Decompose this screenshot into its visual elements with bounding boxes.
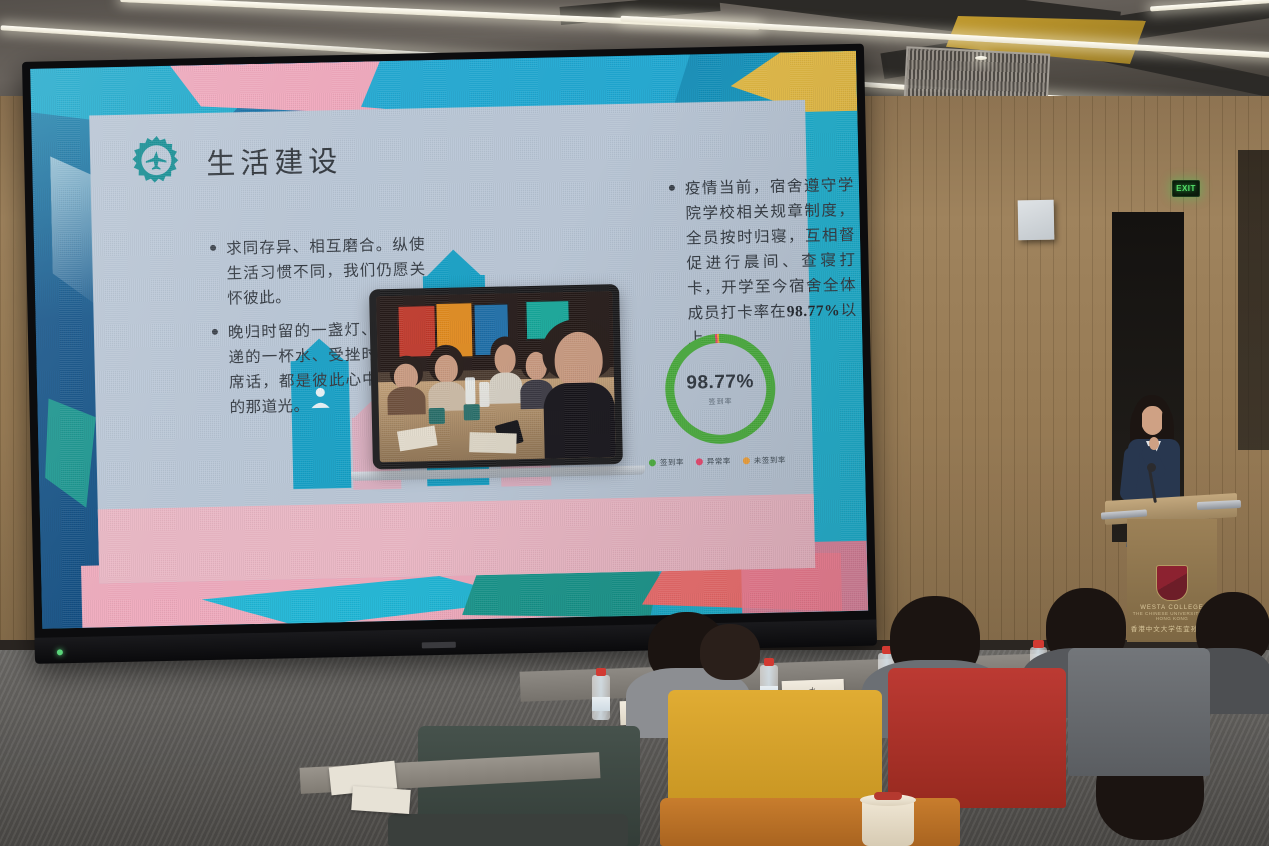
legend-swatch-green xyxy=(649,459,656,466)
laptop-screen xyxy=(369,284,623,469)
photo-person-2 xyxy=(427,344,466,411)
photo-menu-paper-2 xyxy=(469,433,517,454)
legend-swatch-pink xyxy=(696,458,703,465)
legend-label: 异常率 xyxy=(707,456,731,468)
seat-orange[interactable] xyxy=(660,798,960,846)
legend-swatch-orange xyxy=(743,457,750,464)
legend-label: 未签到率 xyxy=(754,454,786,466)
wall-notice-plaque xyxy=(1018,200,1055,241)
bg-splash-teal-left xyxy=(43,397,97,508)
right-bullet-prefix: 疫情当前，宿舍遵守学院学校相关规章制度，全员按时归寝，互相督促进行晨间、查寝打卡… xyxy=(685,176,857,322)
photo-cup-a xyxy=(428,408,445,425)
photo-person-1 xyxy=(387,355,426,416)
exit-sign-label: EXIT xyxy=(1176,184,1196,193)
presenter-face xyxy=(1141,406,1164,435)
laptop-photo-frame xyxy=(369,284,623,469)
slide-content-card: 生活建设 xyxy=(89,100,815,584)
seat-dark-front[interactable] xyxy=(388,814,628,846)
donut-center: 98.77% 签到率 xyxy=(673,342,767,436)
podium-crest-icon xyxy=(1156,565,1188,601)
microphone-head[interactable] xyxy=(1147,463,1156,472)
legend-item-1: 异常率 xyxy=(696,456,731,468)
photo-bottle-b xyxy=(480,382,490,407)
seat-gray[interactable] xyxy=(1068,648,1210,776)
legend-item-2: 未签到率 xyxy=(743,454,786,466)
paper-cup[interactable] xyxy=(862,790,914,846)
slide-header: 生活建设 xyxy=(128,130,343,193)
card-pink-band xyxy=(98,494,815,584)
group-photo xyxy=(376,291,616,462)
ceiling-downlight xyxy=(975,56,987,60)
display-brand-logo xyxy=(422,642,456,649)
lecture-hall-scene: EXIT xyxy=(0,0,1269,846)
exit-sign: EXIT xyxy=(1172,180,1200,197)
photo-cup-b xyxy=(464,404,481,421)
water-bottle-1[interactable] xyxy=(592,668,610,720)
seat-red[interactable] xyxy=(888,668,1066,808)
slide-title: 生活建设 xyxy=(206,138,343,183)
right-bullet-percent: 98.77% xyxy=(787,302,841,320)
gear-airplane-icon xyxy=(128,133,187,192)
display-power-led xyxy=(57,649,63,655)
photo-person-foreground xyxy=(542,318,616,459)
chart-legend: 签到率 异常率 未签到率 xyxy=(649,454,786,468)
legend-label: 签到率 xyxy=(660,457,684,469)
donut-center-value: 98.77% xyxy=(686,371,754,394)
list-item: 疫情当前，宿舍遵守学院学校相关规章制度，全员按时归寝，互相督促进行晨间、查寝打卡… xyxy=(669,172,858,352)
paper-handout-2[interactable] xyxy=(351,786,411,814)
doorway-far-right xyxy=(1238,150,1269,450)
donut-ring: 98.77% 签到率 xyxy=(664,333,776,445)
presentation-display[interactable]: 生活建设 xyxy=(22,44,877,662)
checkin-rate-chart: 98.77% 签到率 签到率 异常率 xyxy=(646,332,809,485)
presenter-hand xyxy=(1149,437,1159,450)
photo-person-3 xyxy=(488,336,522,403)
photo-bottle-a xyxy=(465,377,475,404)
donut-center-label: 签到率 xyxy=(708,396,732,407)
legend-item-0: 签到率 xyxy=(649,457,684,469)
slide-canvas: 生活建设 xyxy=(30,51,868,629)
audience-head-2 xyxy=(700,624,760,680)
